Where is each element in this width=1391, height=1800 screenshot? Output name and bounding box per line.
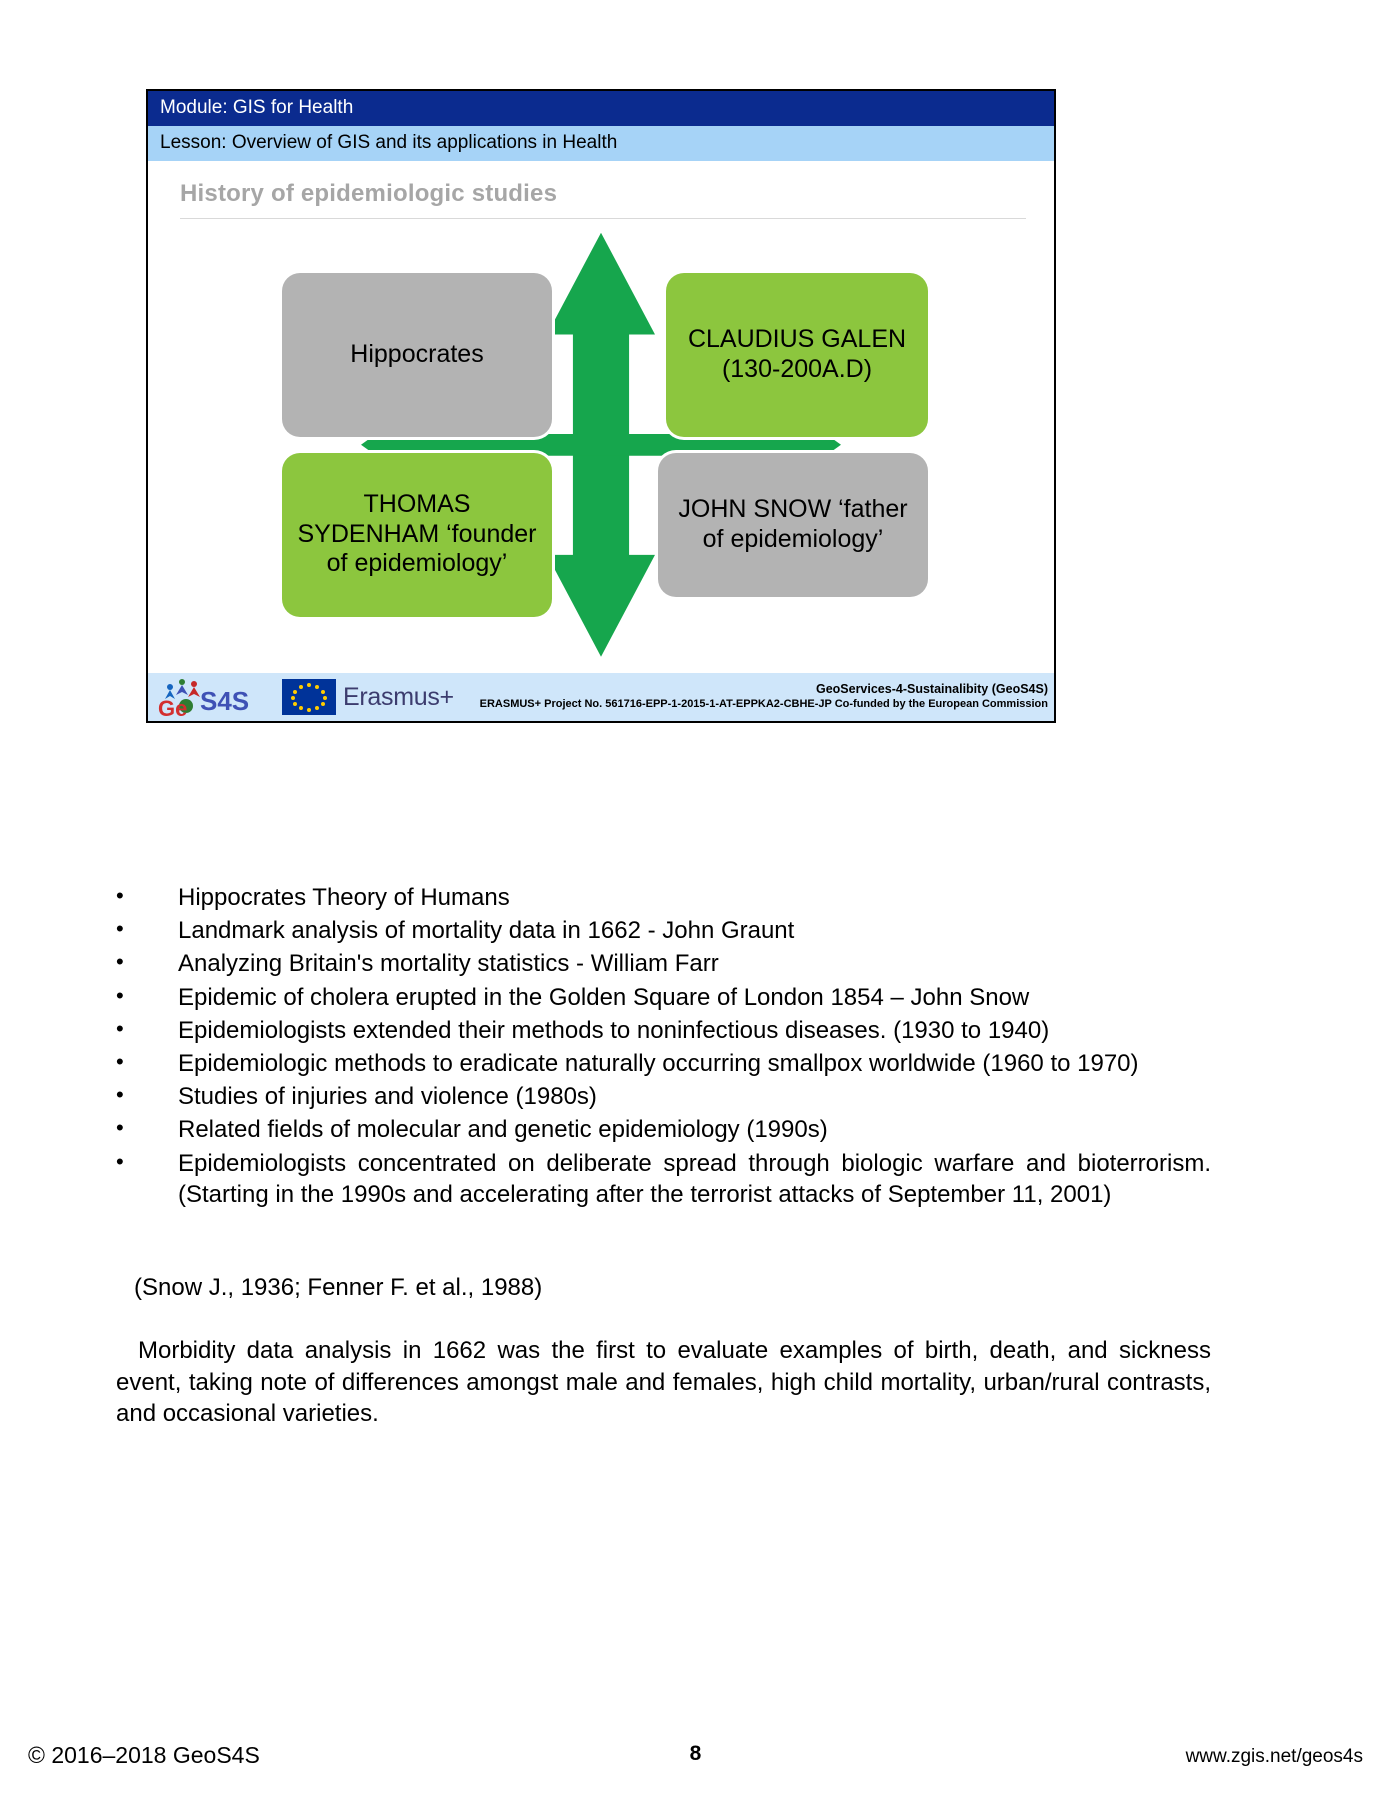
diagram-node-galen-label: CLAUDIUS GALEN (130-200A.D) xyxy=(676,325,918,384)
bullet-icon: • xyxy=(116,882,178,913)
bullet-icon: • xyxy=(116,1081,178,1112)
diagram-node-hippocrates-label: Hippocrates xyxy=(350,340,483,370)
bullet-icon: • xyxy=(116,1015,178,1046)
list-item-text: Landmark analysis of mortality data in 1… xyxy=(178,915,1211,946)
list-item-text: Studies of injuries and violence (1980s) xyxy=(178,1081,1211,1112)
website-link[interactable]: www.zgis.net/geos4s xyxy=(1186,1746,1363,1768)
closing-paragraph: Morbidity data analysis in 1662 was the … xyxy=(116,1335,1211,1430)
erasmus-plus-wordmark: Erasmus+ xyxy=(343,683,454,712)
geos4s-logo-icon: Ge S4S xyxy=(156,676,274,718)
slide-footer-texts: GeoServices-4-Sustainalibity (GeoS4S) ER… xyxy=(480,682,1054,711)
list-item-text: Epidemiologic methods to eradicate natur… xyxy=(178,1048,1211,1079)
bullet-icon: • xyxy=(116,1114,178,1145)
svg-text:Ge: Ge xyxy=(158,696,187,718)
diagram-node-snow: JOHN SNOW ‘father of epidemiology’ xyxy=(658,453,928,597)
slide-container: Module: GIS for Health Lesson: Overview … xyxy=(146,89,1056,723)
slide-module-bar: Module: GIS for Health xyxy=(148,91,1054,126)
diagram-node-snow-label: JOHN SNOW ‘father of epidemiology’ xyxy=(668,495,918,554)
list-item-text: Epidemiologists concentrated on delibera… xyxy=(178,1148,1211,1210)
list-item: • Hippocrates Theory of Humans xyxy=(116,882,1211,913)
diagram-node-sydenham-label: THOMAS SYDENHAM ‘founder of epidemiology… xyxy=(292,490,542,579)
page-footer: © 2016–2018 GeoS4S 8 www.zgis.net/geos4s xyxy=(0,1742,1391,1772)
slide-lesson-bar: Lesson: Overview of GIS and its applicat… xyxy=(148,126,1054,162)
slide-title-divider xyxy=(180,218,1026,219)
list-item: • Studies of injuries and violence (1980… xyxy=(116,1081,1211,1112)
diagram-node-hippocrates: Hippocrates xyxy=(282,273,552,437)
page-number: 8 xyxy=(0,1742,1391,1766)
list-item: • Epidemic of cholera erupted in the Gol… xyxy=(116,982,1211,1013)
bullet-list: • Hippocrates Theory of Humans • Landmar… xyxy=(116,882,1211,1212)
list-item: • Epidemiologists concentrated on delibe… xyxy=(116,1148,1211,1210)
list-item-text: Related fields of molecular and genetic … xyxy=(178,1114,1211,1145)
source-citation: (Snow J., 1936; Fenner F. et al., 1988) xyxy=(134,1274,542,1302)
diagram-node-sydenham: THOMAS SYDENHAM ‘founder of epidemiology… xyxy=(282,453,552,617)
slide-footer: Ge S4S Erasmus+ GeoServices-4 xyxy=(148,672,1054,721)
bullet-icon: • xyxy=(116,982,178,1013)
list-item-text: Epidemiologists extended their methods t… xyxy=(178,1015,1211,1046)
slide-title: History of epidemiologic studies xyxy=(148,162,1054,218)
list-item: • Related fields of molecular and geneti… xyxy=(116,1114,1211,1145)
bullet-icon: • xyxy=(116,915,178,946)
project-info: ERASMUS+ Project No. 561716-EPP-1-2015-1… xyxy=(480,698,1048,712)
list-item-text: Analyzing Britain's mortality statistics… xyxy=(178,948,1211,979)
bullet-icon: • xyxy=(116,1148,178,1210)
list-item: • Epidemiologic methods to eradicate nat… xyxy=(116,1048,1211,1079)
list-item: • Epidemiologists extended their methods… xyxy=(116,1015,1211,1046)
list-item: • Analyzing Britain's mortality statisti… xyxy=(116,948,1211,979)
list-item-text: Hippocrates Theory of Humans xyxy=(178,882,1211,913)
bullet-icon: • xyxy=(116,948,178,979)
erasmus-plus-logo: Erasmus+ xyxy=(282,679,454,715)
svg-text:S4S: S4S xyxy=(200,686,249,716)
project-title: GeoServices-4-Sustainalibity (GeoS4S) xyxy=(480,682,1048,698)
diagram-node-galen: CLAUDIUS GALEN (130-200A.D) xyxy=(666,273,928,437)
epidemiology-history-diagram: Hippocrates CLAUDIUS GALEN (130-200A.D) … xyxy=(148,225,1054,665)
list-item-text: Epidemic of cholera erupted in the Golde… xyxy=(178,982,1211,1013)
eu-flag-icon xyxy=(282,679,336,715)
bullet-icon: • xyxy=(116,1048,178,1079)
list-item: • Landmark analysis of mortality data in… xyxy=(116,915,1211,946)
